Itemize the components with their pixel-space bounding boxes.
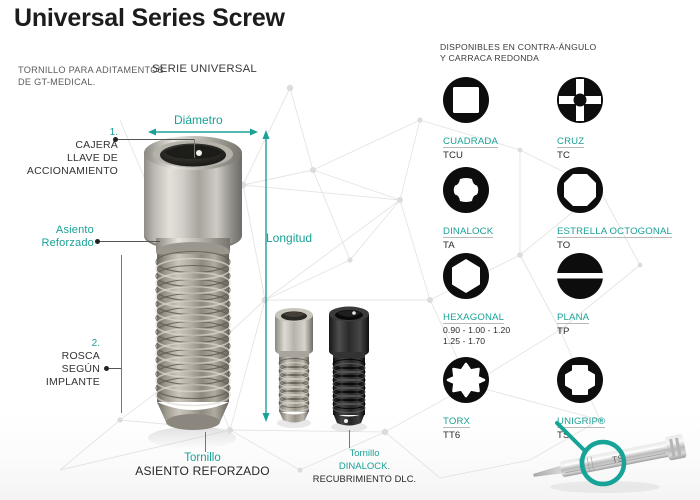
- diameter-arrow: [148, 116, 258, 138]
- icon-code-cruz: TC: [557, 150, 603, 162]
- icon-label-torx: TORX: [443, 416, 470, 428]
- callout-asiento-reforzado: Asiento Reforzado: [0, 224, 94, 250]
- slot-socket-icon: [557, 253, 603, 299]
- caption-1-bottom: ASIENTO REFORZADO: [115, 465, 290, 478]
- subtitle-line-2: DE GT-MEDICAL.: [18, 77, 96, 87]
- icon-cell-plana[interactable]: PLANA TP: [557, 253, 603, 338]
- icon-label-estrella-octogonal: ESTRELLA OCTOGONAL: [557, 226, 672, 238]
- icon-cell-cuadrada[interactable]: CUADRADA TCU: [443, 77, 498, 162]
- icon-code-dinalock: TA: [443, 240, 493, 252]
- callout-3-leader: [109, 368, 121, 369]
- caption-2-mid: DINALOCK.: [297, 461, 432, 474]
- icon-sizes-hexagonal-line-2: 1.25 - 1.70: [443, 336, 510, 347]
- icon-code-plana: TP: [557, 326, 603, 338]
- callout-2-line-2: Reforzado: [0, 237, 94, 250]
- driver-tool-illustration: TS: [520, 415, 700, 500]
- subtitle-line-1: TORNILLO PARA ADITAMENTOS: [18, 65, 164, 75]
- caption-dinalock: Tornillo DINALOCK. RECUBRIMIENTO DLC.: [297, 448, 432, 486]
- small-screw-dinalock-dlc: [322, 303, 376, 435]
- callout-1-leader: [118, 139, 194, 140]
- callout-1-number: 1.: [0, 126, 118, 139]
- caption-1-leader: [205, 432, 206, 452]
- torx-socket-icon: [443, 357, 489, 403]
- icon-label-cuadrada: CUADRADA: [443, 136, 498, 148]
- icon-cell-torx[interactable]: TORX TT6: [443, 357, 489, 442]
- icon-code-torx: TT6: [443, 430, 489, 442]
- callout-cajera: 1. CAJERA LLAVE DE ACCIONAMIENTO: [0, 126, 118, 178]
- caption-1-top: Tornillo: [115, 452, 290, 465]
- panel-heading-line-1: DISPONIBLES EN CONTRA-ÁNGULO: [440, 42, 596, 53]
- callout-1-line-2: LLAVE DE: [0, 152, 118, 165]
- icon-cell-dinalock[interactable]: DINALOCK TA: [443, 167, 493, 252]
- callout-3-line-1: ROSCA: [0, 350, 100, 363]
- callout-1-leader-vertical: [194, 139, 195, 158]
- hexagon-socket-icon: [443, 253, 489, 299]
- callout-3-line-3: IMPLANTE: [0, 376, 100, 389]
- callout-3-leader-vertical: [121, 255, 122, 413]
- subtitle-emphasis: SERIE UNIVERSAL: [152, 63, 257, 75]
- square-socket-icon: [443, 77, 489, 123]
- length-arrow: [255, 130, 277, 422]
- octagon-socket-icon: [557, 167, 603, 213]
- icon-sizes-hexagonal-line-1: 0.90 - 1.00 - 1.20: [443, 325, 510, 336]
- page-title: Universal Series Screw: [14, 4, 285, 33]
- callout-1-line-1: CAJERA: [0, 139, 118, 152]
- panel-heading-line-2: Y CARRACA REDONDA: [440, 53, 596, 64]
- caption-2-top: Tornillo: [297, 448, 432, 461]
- icon-label-hexagonal: HEXAGONAL: [443, 312, 504, 324]
- icon-cell-estrella-octogonal[interactable]: ESTRELLA OCTOGONAL TO: [557, 167, 672, 252]
- callout-2-line-1: Asiento: [0, 224, 94, 237]
- callout-rosca: 2. ROSCA SEGÚN IMPLANTE: [0, 337, 100, 389]
- icon-cell-cruz[interactable]: CRUZ TC: [557, 77, 603, 162]
- icon-label-plana: PLANA: [557, 312, 589, 324]
- caption-2-leader: [349, 430, 350, 448]
- main-screw-illustration: [130, 128, 265, 453]
- callout-3-number: 2.: [0, 337, 100, 350]
- icon-cell-hexagonal[interactable]: HEXAGONAL 0.90 - 1.00 - 1.20 1.25 - 1.70: [443, 253, 510, 346]
- panel-heading: DISPONIBLES EN CONTRA-ÁNGULO Y CARRACA R…: [440, 42, 596, 64]
- icon-label-cruz: CRUZ: [557, 136, 584, 148]
- icon-code-estrella-octogonal: TO: [557, 240, 672, 252]
- caption-asiento-reforzado: Tornillo ASIENTO REFORZADO: [115, 452, 290, 477]
- callout-3-line-2: SEGÚN: [0, 363, 100, 376]
- cross-socket-icon: [557, 77, 603, 123]
- icon-code-cuadrada: TCU: [443, 150, 498, 162]
- dinalock-socket-icon: [443, 167, 489, 213]
- driver-pointer-line: [557, 423, 585, 451]
- caption-2-bottom: RECUBRIMIENTO DLC.: [297, 473, 432, 486]
- icon-label-dinalock: DINALOCK: [443, 226, 493, 238]
- callout-2-leader: [100, 241, 160, 242]
- poster-canvas: Universal Series Screw TORNILLO PARA ADI…: [0, 0, 700, 500]
- callout-1-line-3: ACCIONAMIENTO: [0, 165, 118, 178]
- unigrip-socket-icon: [557, 357, 603, 403]
